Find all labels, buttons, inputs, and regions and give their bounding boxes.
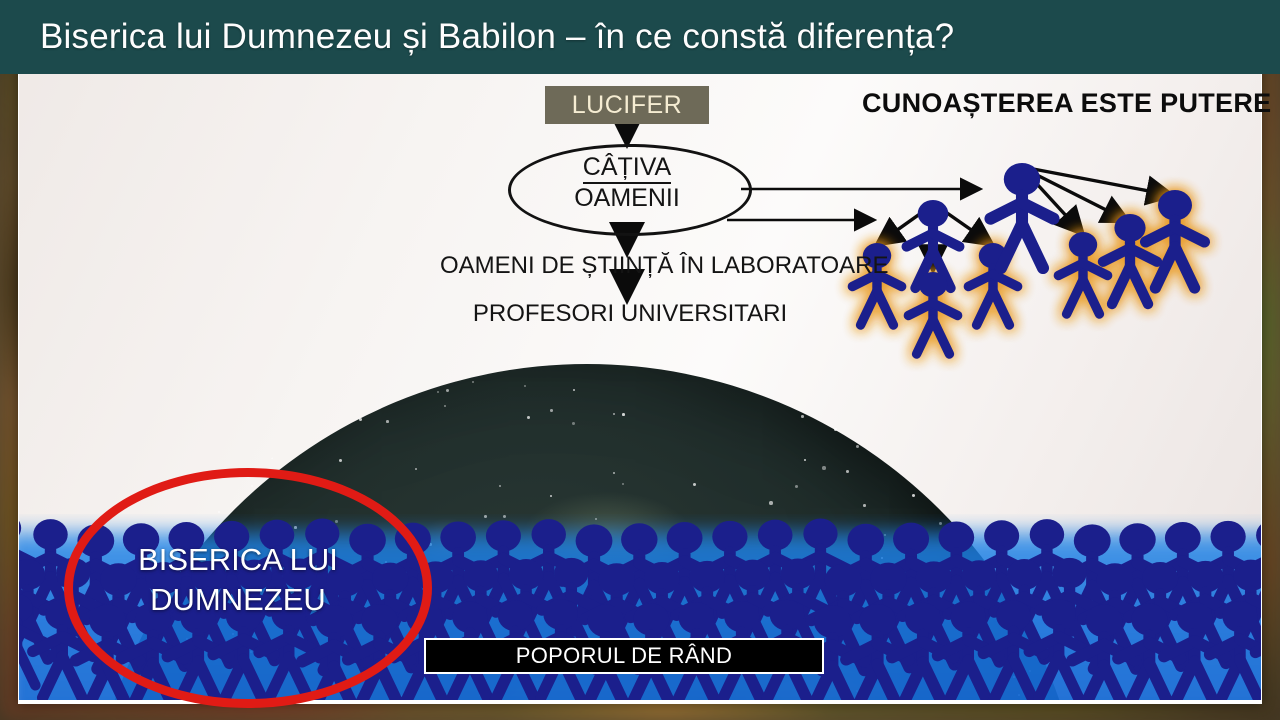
oamenii-label: OAMENII bbox=[508, 183, 746, 214]
professors-label: PROFESORI UNIVERSITARI bbox=[440, 300, 820, 328]
scientists-label: OAMENI DE ȘTIINȚĂ ÎN LABORATOARE bbox=[440, 252, 820, 280]
cativa-oamenii-text: CÂȚIVA OAMENII bbox=[508, 152, 746, 214]
slide-title-bar: Biserica lui Dumnezeu și Babilon – în ce… bbox=[0, 0, 1280, 74]
page-title: Biserica lui Dumnezeu și Babilon – în ce… bbox=[40, 17, 954, 57]
knowledge-is-power-headline: CUNOAȘTEREA ESTE PUTERE bbox=[862, 88, 1271, 119]
lucifer-label: LUCIFER bbox=[572, 91, 682, 120]
slide-root: Biserica lui Dumnezeu și Babilon – în ce… bbox=[0, 0, 1280, 720]
lucifer-box: LUCIFER bbox=[545, 86, 709, 124]
cativa-label: CÂȚIVA bbox=[583, 153, 671, 184]
common-people-bar: POPORUL DE RÂND bbox=[424, 638, 824, 674]
church-label-line1: BISERICA LUI bbox=[78, 540, 398, 580]
common-people-label: POPORUL DE RÂND bbox=[516, 643, 732, 669]
church-label: BISERICA LUI DUMNEZEU bbox=[78, 540, 398, 620]
church-label-line2: DUMNEZEU bbox=[78, 580, 398, 620]
